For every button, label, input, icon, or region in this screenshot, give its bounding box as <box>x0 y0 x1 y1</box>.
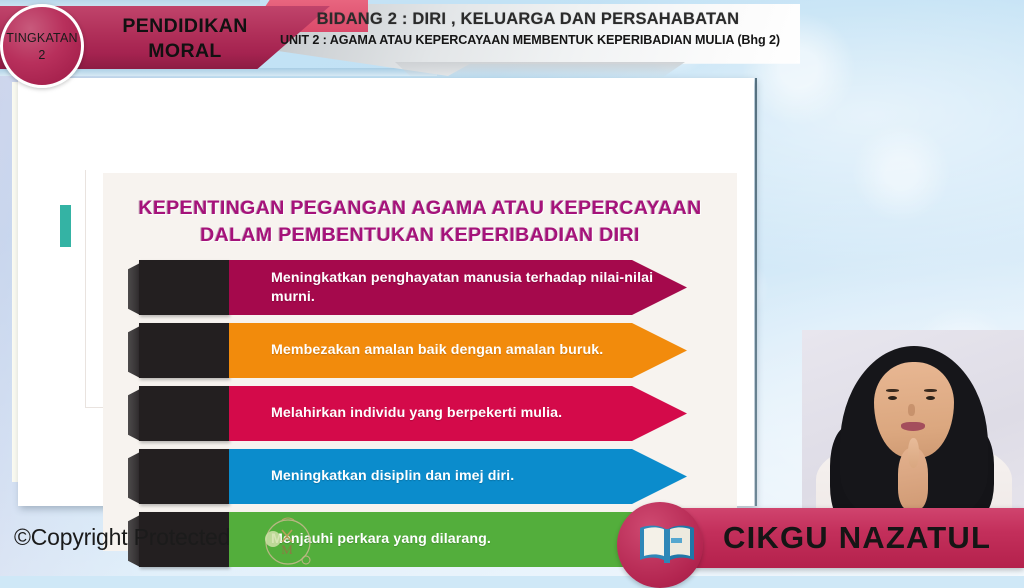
slide-header: PENDIDIKAN MORAL BIDANG 2 : DIRI , KELUA… <box>0 0 800 76</box>
header-gray-panel-shadow <box>395 62 685 78</box>
list-item: Meningkatkan penghayatan manusia terhada… <box>103 259 737 315</box>
presenter-eyebrow-right <box>924 389 937 392</box>
subject-title: PENDIDIKAN MORAL <box>100 14 270 64</box>
teal-accent-bar <box>60 205 71 247</box>
tingkatan-value: 2 <box>38 48 45 62</box>
brand-bar: CIKGU NAZATUL <box>645 508 1024 568</box>
presenter-eye-left <box>888 396 897 400</box>
presenter-eyebrow-left <box>886 389 899 392</box>
slide-guide-line-vertical <box>85 170 86 407</box>
slide-paper-edge <box>755 78 757 506</box>
open-book-icon <box>637 522 697 566</box>
slide-title-line-1: KEPENTINGAN PEGANGAN AGAMA ATAU KEPERCAY… <box>103 195 737 222</box>
slide-title: KEPENTINGAN PEGANGAN AGAMA ATAU KEPERCAY… <box>103 195 737 249</box>
copyright-text: ©Copyright Protected <box>14 524 230 551</box>
row-arrow-3: Melahirkan individu yang berpekerti muli… <box>229 386 687 441</box>
list-item: Melahirkan individu yang berpekerti muli… <box>103 385 737 441</box>
row-arrow-2: Membezakan amalan baik dengan amalan bur… <box>229 323 687 378</box>
row-text: Melahirkan individu yang berpekerti muli… <box>229 404 562 423</box>
list-item: Membezakan amalan baik dengan amalan bur… <box>103 322 737 378</box>
presenter-eye-right <box>926 396 935 400</box>
tingkatan-badge: TINGKATAN 2 <box>0 4 84 88</box>
row-arrow-1: Meningkatkan penghayatan manusia terhada… <box>229 260 687 315</box>
bidang-heading: BIDANG 2 : DIRI , KELUARGA DAN PERSAHABA… <box>278 10 778 29</box>
svg-text:M: M <box>281 542 293 557</box>
row-number-box <box>139 323 229 378</box>
slide-title-line-2: DALAM PEMBENTUKAN KEPERIBADIAN DIRI <box>103 222 737 249</box>
brand-name: CIKGU NAZATUL <box>723 520 991 556</box>
xm-circle-watermark: M <box>258 512 316 570</box>
row-number-box <box>139 449 229 504</box>
unit-heading: UNIT 2 : AGAMA ATAU KEPERCAYAAN MEMBENTU… <box>270 33 790 47</box>
slide-paper: KEPENTINGAN PEGANGAN AGAMA ATAU KEPERCAY… <box>18 78 754 506</box>
row-number-box <box>139 386 229 441</box>
content-card: KEPENTINGAN PEGANGAN AGAMA ATAU KEPERCAY… <box>103 173 737 551</box>
row-text: Meningkatkan disiplin dan imej diri. <box>229 467 514 486</box>
row-text: Meningkatkan penghayatan manusia terhada… <box>229 269 687 307</box>
presenter-video <box>802 330 1024 520</box>
row-number-box <box>139 260 229 315</box>
presenter-nose <box>908 404 915 416</box>
row-text: Membezakan amalan baik dengan amalan bur… <box>229 341 603 360</box>
row-arrow-4: Meningkatkan disiplin dan imej diri. <box>229 449 687 504</box>
presenter-finger <box>908 438 919 468</box>
tingkatan-label: TINGKATAN <box>6 31 77 45</box>
list-item: Meningkatkan disiplin dan imej diri. <box>103 448 737 504</box>
presenter-mouth <box>901 422 925 431</box>
